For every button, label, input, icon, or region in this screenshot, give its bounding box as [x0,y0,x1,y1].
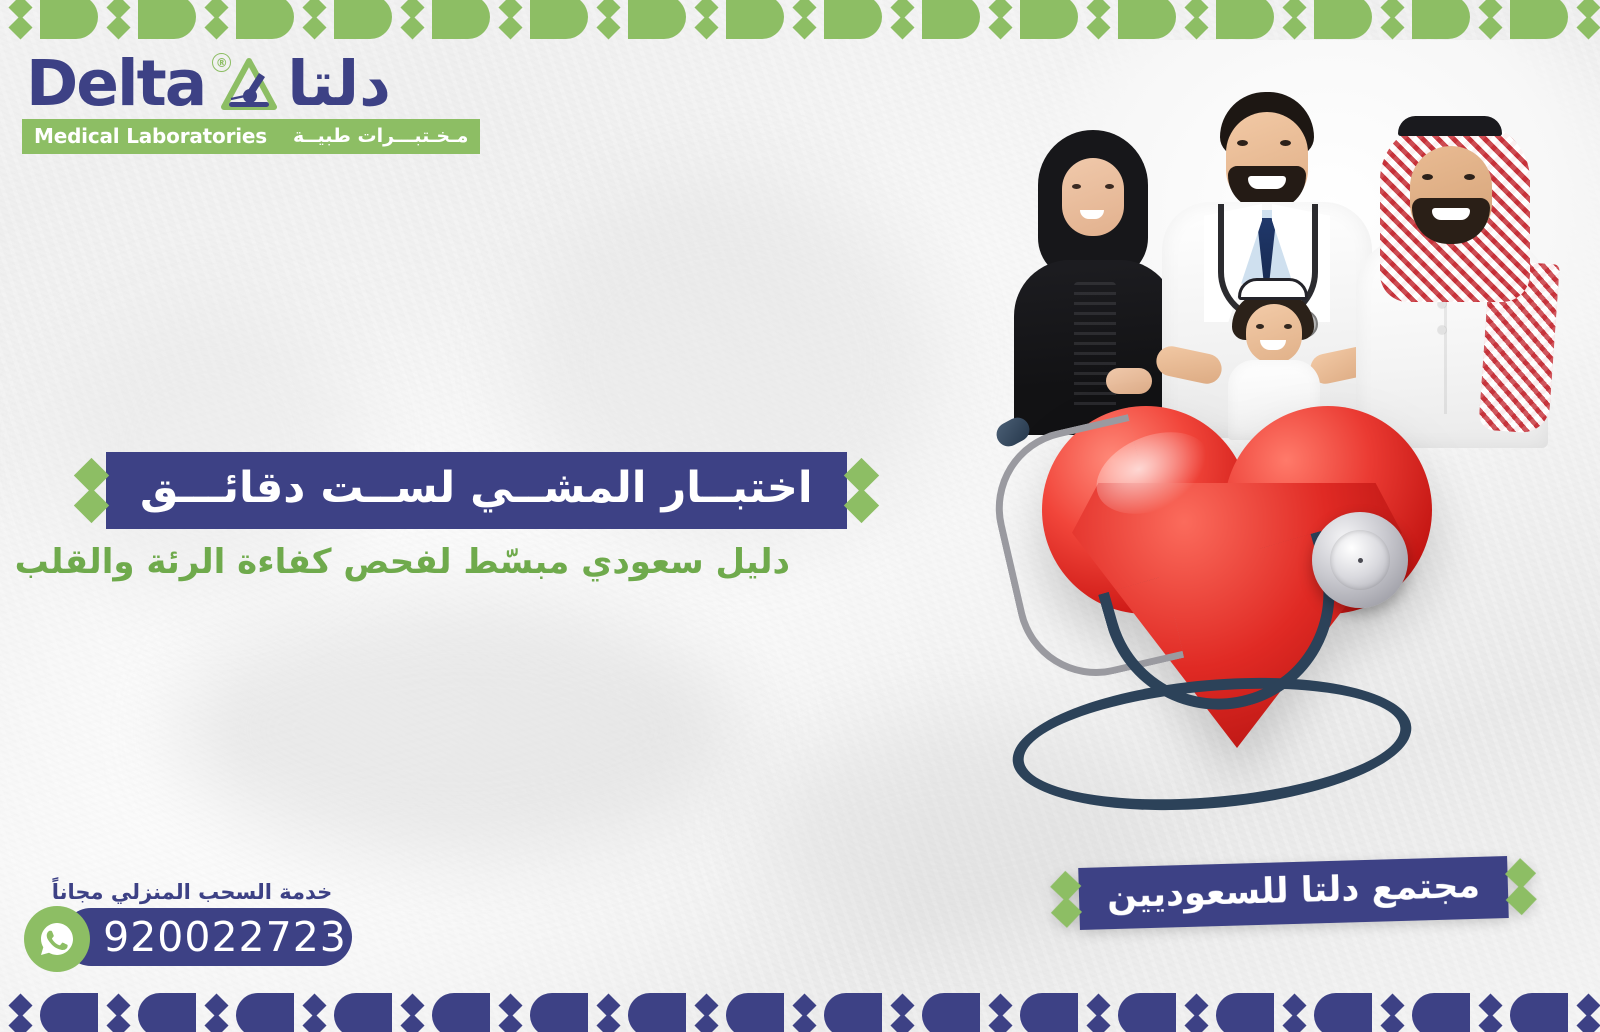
border-diamond [1087,0,1109,39]
border-diamond [107,993,129,1032]
stethoscope-tip [1409,585,1450,614]
border-diamond [107,0,129,39]
microscope-triangle-icon: ® [215,55,277,113]
border-block [922,0,980,39]
eye [1237,140,1248,146]
border-diamond [891,0,913,39]
phone-pill[interactable]: 920022723 [62,908,352,966]
border-block [1412,0,1470,39]
headline-bar: اختبــار المشــي لســت دقائـــق [106,452,847,529]
contact-block: خدمة السحب المنزلي مجاناً 920022723 [24,880,354,970]
border-diamond [499,993,521,1032]
border-block [628,0,686,39]
border-block [824,0,882,39]
border-diamond [1577,993,1599,1032]
ribbon-diamond-decor-right [1507,855,1535,918]
ribbon-diamond-decor-left [1052,868,1080,931]
contact-caption: خدمة السحب المنزلي مجاناً [30,880,354,904]
border-diamond [1479,0,1501,39]
border-diamond [401,993,423,1032]
border-diamond [891,993,913,1032]
border-block [530,993,588,1032]
phone-number[interactable]: 920022723 [103,913,347,961]
ribbon-diamond-decor-right [847,452,877,529]
border-block [138,993,196,1032]
border-diamond [1087,993,1109,1032]
eye [1464,174,1475,180]
border-diamond [989,993,1011,1032]
eye [1422,174,1433,180]
logo-wordmark-row: Delta ® دلتا [22,55,480,114]
border-block [334,0,392,39]
border-diamond [1381,993,1403,1032]
border-diamond [597,993,619,1032]
ribbon-diamond-decor-left [76,452,106,529]
face [1246,304,1302,364]
border-diamond [597,0,619,39]
logo-latin-name: Delta [26,55,205,113]
logo-tagline-arabic: مـخـتبـــرات طبيــة [293,125,468,147]
community-bar: مجتمع دلتا للسعوديين [1078,856,1509,930]
page-title: اختبــار المشــي لســت دقائـــق [140,466,813,511]
logo-arabic-name: دلتا [287,55,391,114]
border-diamond [1479,993,1501,1032]
border-block [628,993,686,1032]
border-block [1412,993,1470,1032]
page-subtitle: دليل سعودي مبسّط لفحص كفاءة الرئة والقلب [80,542,790,583]
border-block [40,0,98,39]
border-diamond [9,993,31,1032]
background-smudge [180,600,740,860]
border-block [138,0,196,39]
eye [1280,140,1291,146]
taqiyah-cap [1238,278,1308,300]
bottom-decorative-border [0,992,1600,1032]
border-diamond [793,0,815,39]
promotional-banner: Delta ® دلتا Medical Laboratories مـخـتب… [0,0,1600,1032]
logo-tagline-english: Medical Laboratories [34,124,267,148]
border-diamond [205,0,227,39]
whatsapp-icon[interactable] [24,906,90,972]
border-block [1510,0,1568,39]
smile [1248,176,1286,189]
border-block [236,993,294,1032]
border-block [1020,0,1078,39]
community-label: مجتمع دلتا للسعوديين [1106,867,1480,914]
heart-illustration [1002,392,1482,822]
border-diamond [205,993,227,1032]
border-block [726,0,784,39]
border-block [1020,993,1078,1032]
border-diamond [1577,0,1599,39]
logo-tagline-band: Medical Laboratories مـخـتبـــرات طبيــة [22,119,480,154]
eye [1256,324,1264,329]
border-diamond [303,993,325,1032]
border-block [726,993,784,1032]
border-diamond [989,0,1011,39]
headline-ribbon: اختبــار المشــي لســت دقائـــق [76,452,877,529]
border-block [1314,0,1372,39]
border-diamond [401,0,423,39]
thobe-button [1438,326,1446,334]
contact-phone-row[interactable]: 920022723 [24,908,354,970]
border-block [1314,993,1372,1032]
border-block [334,993,392,1032]
border-block [1118,0,1176,39]
border-diamond [1283,0,1305,39]
face [1062,158,1124,236]
border-diamond [499,0,521,39]
border-block [1118,993,1176,1032]
eye [1284,324,1292,329]
top-decorative-border [0,0,1600,40]
border-block [432,993,490,1032]
brand-logo: Delta ® دلتا Medical Laboratories مـخـتب… [22,55,480,154]
border-block [530,0,588,39]
border-diamond [1381,0,1403,39]
border-diamond [695,0,717,39]
border-block [1216,993,1274,1032]
eye [1072,184,1081,189]
hands [1106,368,1152,394]
border-diamond [1283,993,1305,1032]
person-woman-hijab [1010,130,1180,430]
border-diamond [303,0,325,39]
smile [1432,208,1470,220]
border-block [432,0,490,39]
border-block [1510,993,1568,1032]
border-diamond [1185,0,1207,39]
border-block [922,993,980,1032]
border-block [40,993,98,1032]
border-diamond [1185,993,1207,1032]
border-block [1216,0,1274,39]
stethoscope-chestpiece [1312,512,1408,608]
border-diamond [793,993,815,1032]
eye [1105,184,1114,189]
border-block [824,993,882,1032]
border-block [236,0,294,39]
border-diamond [695,993,717,1032]
igal-cord [1398,116,1502,136]
border-diamond [9,0,31,39]
